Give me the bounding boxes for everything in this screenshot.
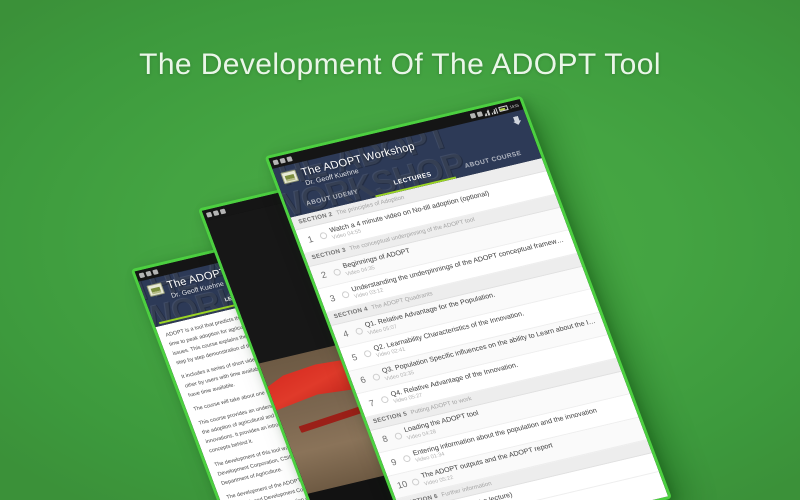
wifi-icon <box>145 271 152 277</box>
signal-bars-icon <box>483 109 490 116</box>
udemy-logo-icon <box>146 282 165 297</box>
signal-icon <box>206 212 213 218</box>
signal-icon <box>272 159 279 165</box>
wifi-icon <box>213 210 220 216</box>
vibrate-icon <box>477 111 484 117</box>
battery-icon <box>498 105 509 112</box>
alarm-icon <box>470 113 477 119</box>
wifi-bars-icon <box>491 107 498 114</box>
udemy-logo-icon[interactable] <box>280 170 299 185</box>
signal-icon <box>139 272 146 278</box>
phone-mockup-stage: The ADOPT Workshop Dr. Geoff Kuehne LECT… <box>0 0 800 500</box>
status-bar-clock: 14:15 <box>509 103 520 110</box>
sync-icon <box>286 156 293 162</box>
wifi-icon <box>279 158 286 164</box>
download-icon[interactable] <box>511 116 522 126</box>
sync-icon <box>220 209 227 215</box>
sync-icon <box>152 269 159 275</box>
